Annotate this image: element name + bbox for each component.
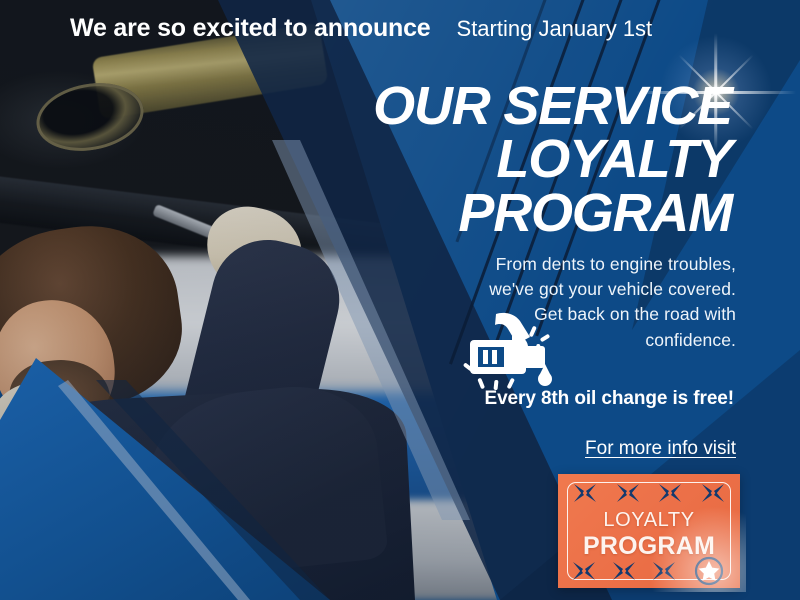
x-stamp-icon [701, 482, 725, 504]
stamp-row-top [558, 481, 740, 505]
headline-line-1: OUR SERVICE [312, 80, 732, 133]
loyalty-card-title-1: LOYALTY [558, 510, 740, 530]
header-row: We are so excited to announce Starting J… [70, 14, 770, 43]
page-title: OUR SERVICE LOYALTY PROGRAM [312, 80, 732, 240]
start-date-label: Starting January 1st [457, 16, 653, 42]
headline-line-3: PROGRAM [312, 187, 732, 240]
stamp-row-bottom [558, 559, 740, 583]
x-stamp-icon [652, 560, 676, 582]
body-line-2: we've got your vehicle covered. [436, 277, 736, 302]
x-stamp-icon [572, 560, 596, 582]
body-line-1: From dents to engine troubles, [436, 252, 736, 277]
oil-can-icon [452, 300, 558, 396]
star-stamp-icon [692, 556, 726, 586]
x-stamp-icon [573, 482, 597, 504]
headline-line-2: LOYALTY [312, 133, 732, 186]
more-info-link[interactable]: For more info visit [416, 438, 736, 460]
x-stamp-icon [612, 560, 636, 582]
loyalty-card: LOYALTY PROGRAM [558, 474, 740, 588]
announcement-kicker: We are so excited to announce [70, 14, 431, 43]
x-stamp-icon [658, 482, 682, 504]
promo-banner: We are so excited to announce Starting J… [0, 0, 800, 600]
x-stamp-icon [616, 482, 640, 504]
more-info-link-label: For more info visit [585, 438, 736, 459]
